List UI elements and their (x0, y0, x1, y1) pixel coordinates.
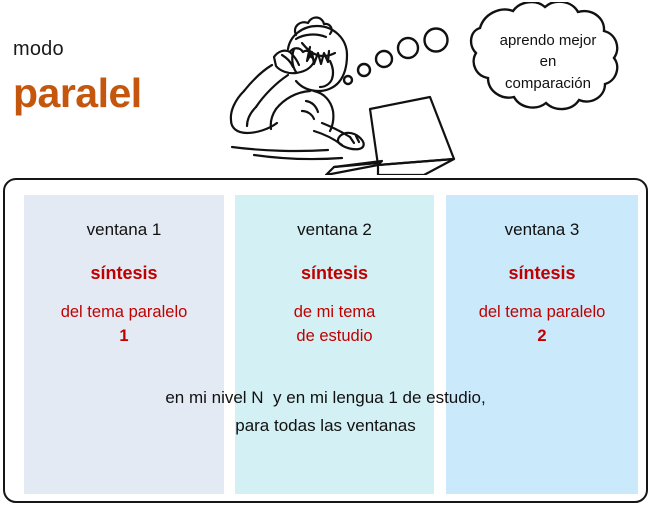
panel-1-window-label: ventana 1 (24, 220, 224, 240)
panel-1-description: del tema paralelo 1 (24, 300, 224, 348)
panel-1-desc-line-1: del tema paralelo (24, 300, 224, 324)
panel-2-description: de mi tema de estudio (235, 300, 434, 348)
panel-2-desc-line-1: de mi tema (235, 300, 434, 324)
thought-bubble-line-3: comparación (462, 73, 634, 94)
panel-2-window-label: ventana 2 (235, 220, 434, 240)
panel-1-heading: síntesis (24, 263, 224, 284)
panel-3-desc-line-1: del tema paralelo (446, 300, 638, 324)
panel-2-desc-line-2: de estudio (235, 324, 434, 348)
panel-3-content: ventana 3 síntesis del tema paralelo 2 (446, 220, 638, 348)
panel-3-desc-line-2: 2 (537, 327, 546, 345)
windows-panel-group: ventana 1 síntesis del tema paralelo 1 v… (3, 178, 648, 503)
mode-label: modo (13, 38, 64, 61)
page-title: paralel (13, 70, 142, 117)
thought-bubble-line-1: aprendo mejor (462, 30, 634, 51)
thought-bubble-line-2: en (462, 51, 634, 72)
thought-bubble-text: aprendo mejor en comparación (462, 30, 634, 94)
window-panel-3[interactable]: ventana 3 síntesis del tema paralelo 2 (446, 195, 638, 494)
header-area: modo paralel (0, 0, 657, 178)
panel-1-content: ventana 1 síntesis del tema paralelo 1 (24, 220, 224, 348)
panel-2-heading: síntesis (235, 263, 434, 284)
window-panel-2[interactable]: ventana 2 síntesis de mi tema de estudio (235, 195, 434, 494)
panel-3-heading: síntesis (446, 263, 638, 284)
panel-3-window-label: ventana 3 (446, 220, 638, 240)
panel-2-content: ventana 2 síntesis de mi tema de estudio (235, 220, 434, 348)
panel-3-description: del tema paralelo 2 (446, 300, 638, 348)
window-panel-1[interactable]: ventana 1 síntesis del tema paralelo 1 (24, 195, 224, 494)
panel-1-desc-line-2: 1 (119, 327, 128, 345)
